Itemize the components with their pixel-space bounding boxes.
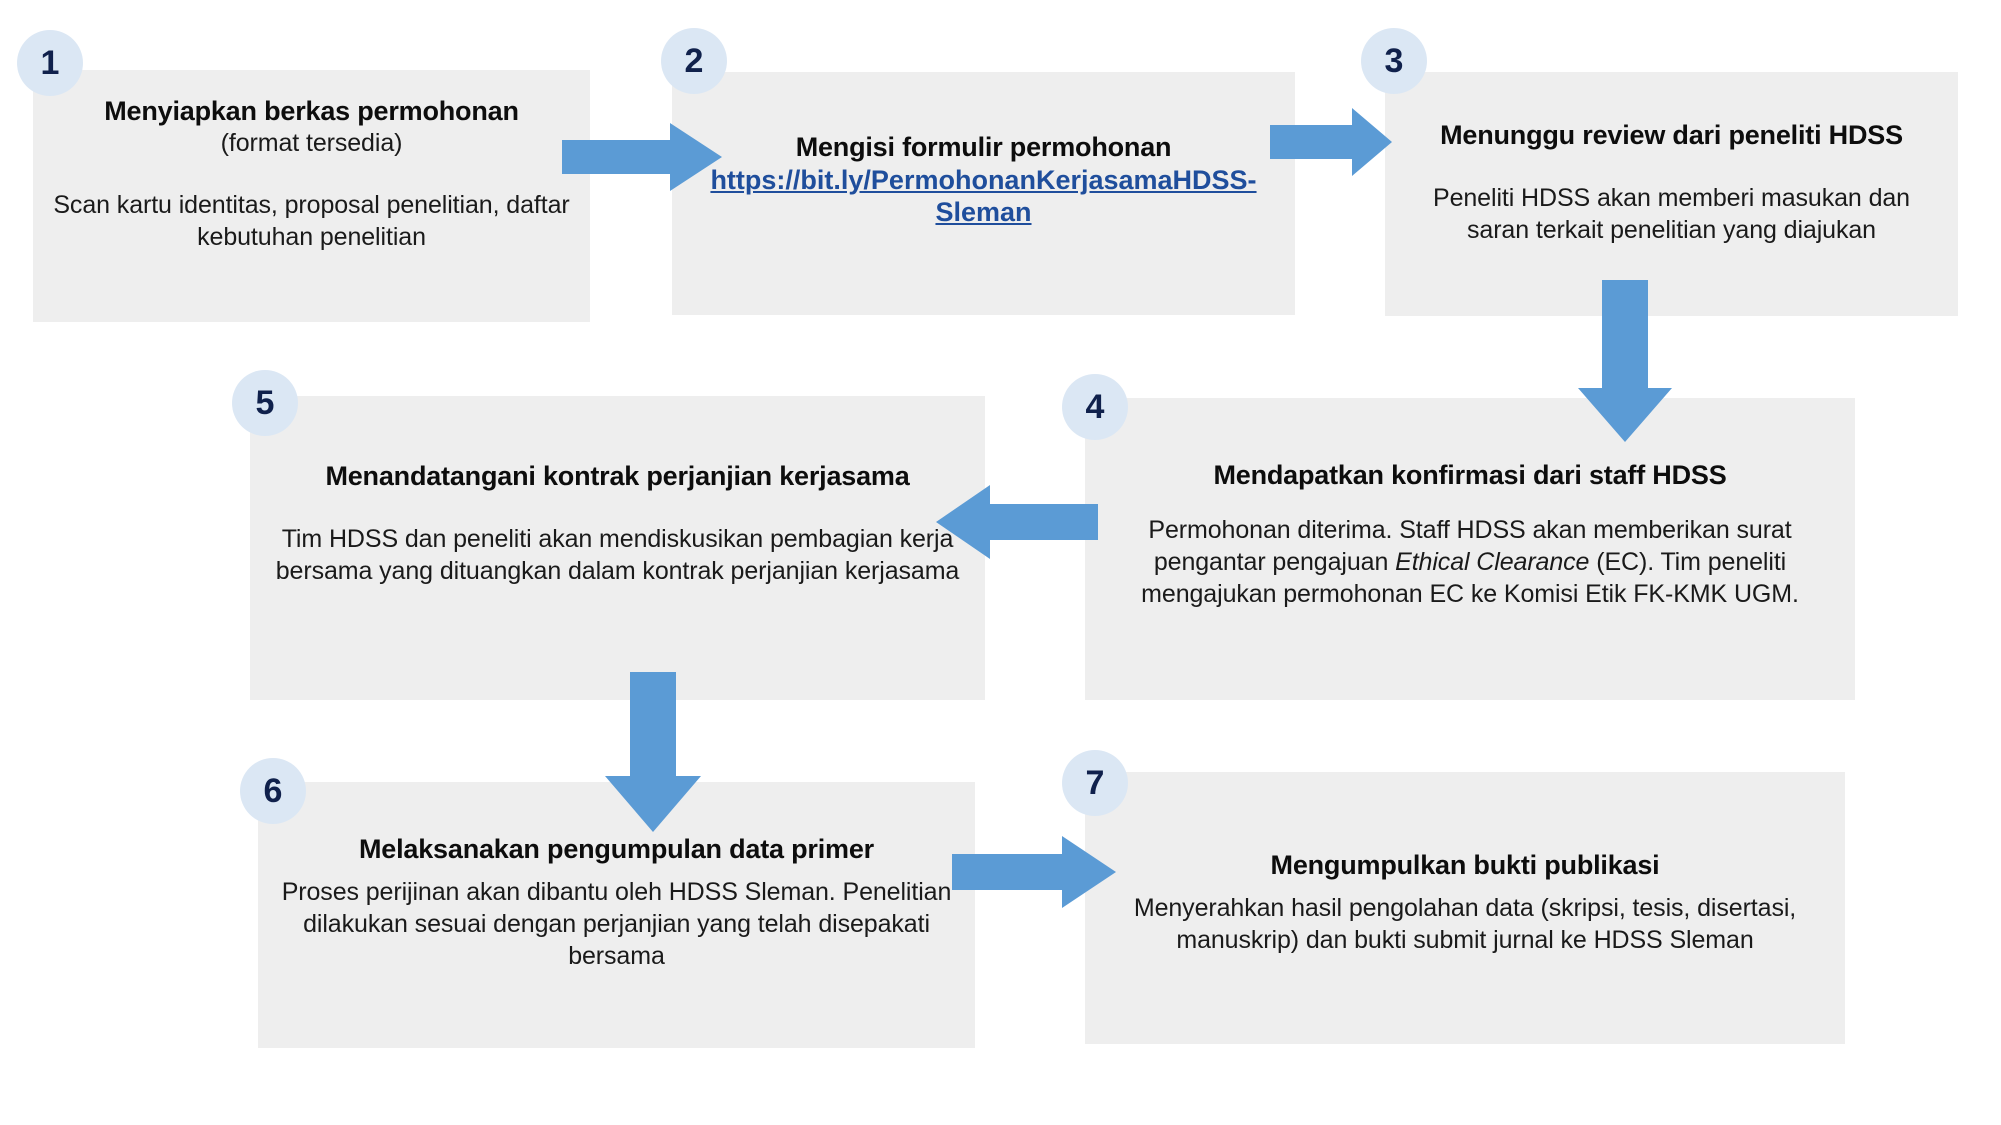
arrow-step6-to-step7 <box>952 836 1116 908</box>
step-1-body: Scan kartu identitas, proposal penelitia… <box>51 189 572 253</box>
step-number-badge-4: 4 <box>1062 374 1128 440</box>
step-number-badge-5: 5 <box>232 370 298 436</box>
step-box-4: Mendapatkan konfirmasi dari staff HDSS P… <box>1085 398 1855 700</box>
step-6-title: Melaksanakan pengumpulan data primer <box>359 834 874 866</box>
step-4-body: Permohonan diterima. Staff HDSS akan mem… <box>1105 514 1835 610</box>
step-6-body: Proses perijinan akan dibantu oleh HDSS … <box>274 876 959 972</box>
step-2-form-link[interactable]: https://bit.ly/PermohonanKerjasamaHDSS-S… <box>698 164 1269 229</box>
step-3-title: Menunggu review dari peneliti HDSS <box>1440 120 1903 152</box>
step-box-7: Mengumpulkan bukti publikasi Menyerahkan… <box>1085 772 1845 1044</box>
step-number-badge-6: 6 <box>240 758 306 824</box>
arrow-step4-to-step5 <box>936 485 1098 559</box>
arrow-step5-to-step6 <box>605 672 701 832</box>
step-box-5: Menandatangani kontrak perjanjian kerjas… <box>250 396 985 700</box>
step-5-body: Tim HDSS dan peneliti akan mendiskusikan… <box>266 523 969 587</box>
arrow-step1-to-step2 <box>562 123 722 191</box>
step-1-title: Menyiapkan berkas permohonan <box>104 96 519 128</box>
flowchart-canvas: Menyiapkan berkas permohonan (format ter… <box>0 0 2001 1125</box>
step-4-title: Mendapatkan konfirmasi dari staff HDSS <box>1213 460 1726 492</box>
step-7-title: Mengumpulkan bukti publikasi <box>1271 850 1660 882</box>
step-5-title: Menandatangani kontrak perjanjian kerjas… <box>325 461 909 493</box>
step-number-badge-3: 3 <box>1361 28 1427 94</box>
arrow-step3-to-step4 <box>1578 280 1672 442</box>
arrow-step2-to-step3 <box>1270 108 1392 176</box>
step-3-body: Peneliti HDSS akan memberi masukan dan s… <box>1401 182 1942 246</box>
step-2-title: Mengisi formulir permohonan <box>796 132 1172 164</box>
step-4-body-italic: Ethical Clearance <box>1395 548 1589 576</box>
step-number-badge-2: 2 <box>661 28 727 94</box>
step-7-body: Menyerahkan hasil pengolahan data (skrip… <box>1105 892 1825 956</box>
step-1-subtitle: (format tersedia) <box>221 128 403 160</box>
step-box-2: Mengisi formulir permohonan https://bit.… <box>672 72 1295 315</box>
step-number-badge-1: 1 <box>17 30 83 96</box>
step-number-badge-7: 7 <box>1062 750 1128 816</box>
step-box-1: Menyiapkan berkas permohonan (format ter… <box>33 70 590 322</box>
